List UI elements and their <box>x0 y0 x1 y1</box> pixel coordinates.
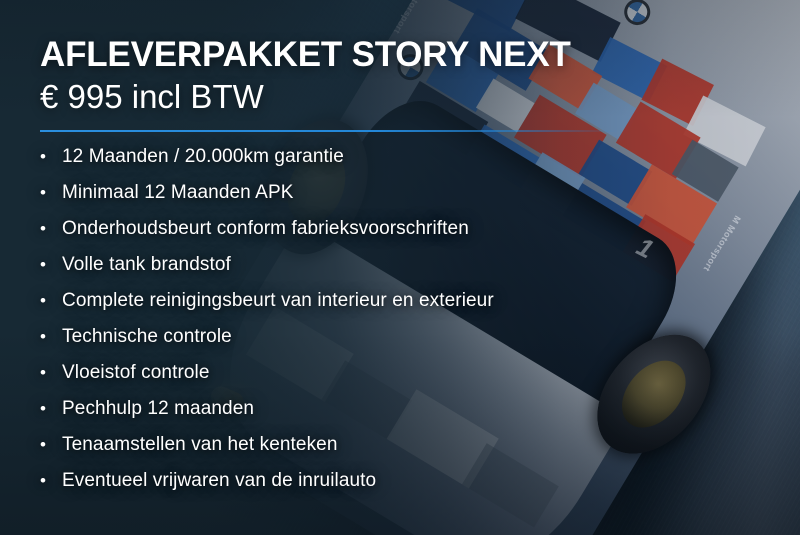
list-item-label: Tenaamstellen van het kenteken <box>62 434 338 456</box>
feature-list: • 12 Maanden / 20.000km garantie • Minim… <box>40 146 770 506</box>
card-content: AFLEVERPAKKET STORY NEXT € 995 incl BTW … <box>0 0 800 535</box>
bullet-icon: • <box>40 436 62 453</box>
list-item: • Volle tank brandstof <box>40 254 770 290</box>
list-item: • Complete reinigingsbeurt van interieur… <box>40 290 770 326</box>
list-item: • Eventueel vrijwaren van de inruilauto <box>40 470 770 506</box>
afleverpakket-card: M Motorsport M Motorsport 1 AFLEVERPAKKE… <box>0 0 800 535</box>
list-item: • Technische controle <box>40 326 770 362</box>
list-item-label: Eventueel vrijwaren van de inruilauto <box>62 470 376 492</box>
list-item-label: Vloeistof controle <box>62 362 210 384</box>
bullet-icon: • <box>40 292 62 309</box>
list-item: • Onderhoudsbeurt conform fabrieksvoorsc… <box>40 218 770 254</box>
list-item: • Pechhulp 12 maanden <box>40 398 770 434</box>
list-item-label: Volle tank brandstof <box>62 254 231 276</box>
bullet-icon: • <box>40 256 62 273</box>
list-item-label: 12 Maanden / 20.000km garantie <box>62 146 344 168</box>
list-item: • Tenaamstellen van het kenteken <box>40 434 770 470</box>
bullet-icon: • <box>40 364 62 381</box>
list-item: • 12 Maanden / 20.000km garantie <box>40 146 770 182</box>
accent-divider <box>40 130 620 132</box>
bullet-icon: • <box>40 184 62 201</box>
bullet-icon: • <box>40 148 62 165</box>
list-item-label: Onderhoudsbeurt conform fabrieksvoorschr… <box>62 218 469 240</box>
list-item-label: Technische controle <box>62 326 232 348</box>
list-item: • Vloeistof controle <box>40 362 770 398</box>
price-subtitle: € 995 incl BTW <box>40 78 264 116</box>
page-title: AFLEVERPAKKET STORY NEXT <box>40 36 571 74</box>
list-item-label: Complete reinigingsbeurt van interieur e… <box>62 290 494 312</box>
list-item-label: Minimaal 12 Maanden APK <box>62 182 294 204</box>
bullet-icon: • <box>40 472 62 489</box>
list-item: • Minimaal 12 Maanden APK <box>40 182 770 218</box>
bullet-icon: • <box>40 328 62 345</box>
list-item-label: Pechhulp 12 maanden <box>62 398 254 420</box>
bullet-icon: • <box>40 400 62 417</box>
bullet-icon: • <box>40 220 62 237</box>
